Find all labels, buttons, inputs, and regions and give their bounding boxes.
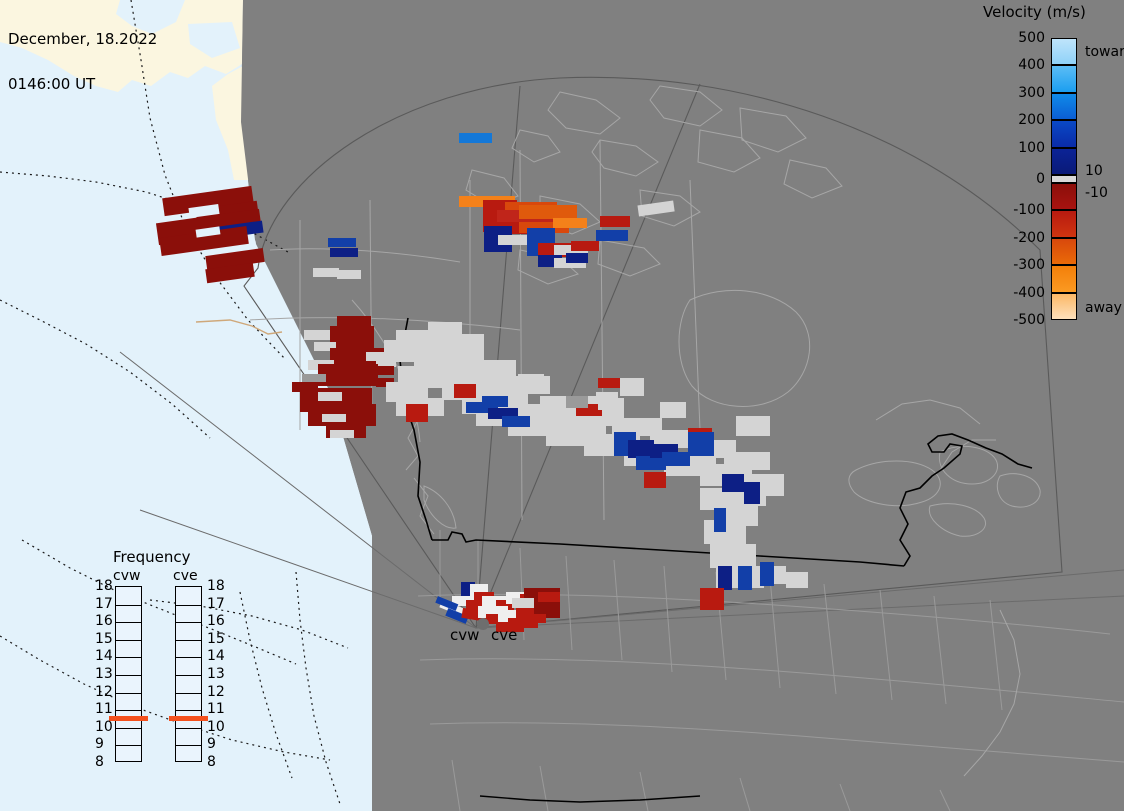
- velocity-segment-350: [1051, 65, 1077, 92]
- velocity-colorbar[interactable]: [1051, 38, 1077, 320]
- velocity-tick-200: 200: [1018, 112, 1045, 128]
- frequency-scale-label-left-10: 10: [95, 719, 113, 735]
- velocity-segment--250: [1051, 238, 1077, 265]
- velocity-positive-threshold-label: 10: [1085, 163, 1103, 179]
- frequency-scale-label-right-18: 18: [207, 578, 225, 594]
- velocity-colorbar-panel: Velocity (m/s) 5004003002001000-100-200-…: [975, 0, 1124, 330]
- frequency-scale-label-right-13: 13: [207, 666, 225, 682]
- frequency-gridline: [176, 745, 201, 746]
- cell-group-near-field-clutter: [435, 582, 560, 632]
- frequency-scale-label-left-14: 14: [95, 648, 113, 664]
- velocity-segment--50: [1051, 183, 1077, 210]
- time-label: 0146:00 UT: [8, 77, 157, 92]
- velocity-toward-label: toward: [1085, 44, 1124, 60]
- velocity-segment--350: [1051, 265, 1077, 292]
- frequency-scale-label-right-17: 17: [207, 596, 225, 612]
- velocity-tick--300: -300: [1013, 257, 1045, 273]
- frequency-scale-label-right-8: 8: [207, 754, 216, 770]
- velocity-tick--100: -100: [1013, 202, 1045, 218]
- frequency-gridline: [116, 728, 141, 729]
- frequency-gridline: [116, 693, 141, 694]
- frequency-gridline: [176, 605, 201, 606]
- frequency-scale-label-right-9: 9: [207, 736, 216, 752]
- frequency-scale-label-right-11: 11: [207, 701, 225, 717]
- frequency-gridline: [176, 640, 201, 641]
- frequency-gridline: [116, 657, 141, 658]
- frequency-gridline: [176, 728, 201, 729]
- frequency-column-title-cve: cve: [173, 568, 198, 584]
- velocity-tick-100: 100: [1018, 140, 1045, 156]
- frequency-gridline: [176, 693, 201, 694]
- velocity-away-label: away: [1085, 300, 1122, 316]
- frequency-scale-label-left-8: 8: [95, 754, 104, 770]
- frequency-scale-label-left-12: 12: [95, 684, 113, 700]
- frequency-bar-cvw[interactable]: [115, 586, 142, 762]
- frequency-legend-panel: Frequency cvwcve181817171616151514141313…: [95, 548, 235, 773]
- frequency-scale-label-left-18: 18: [95, 578, 113, 594]
- velocity-tick-300: 300: [1018, 85, 1045, 101]
- velocity-tick-500: 500: [1018, 30, 1045, 46]
- frequency-scale-label-right-16: 16: [207, 613, 225, 629]
- velocity-segment--150: [1051, 210, 1077, 237]
- frequency-gridline: [116, 675, 141, 676]
- frequency-scale-label-left-11: 11: [95, 701, 113, 717]
- frequency-gridline: [176, 710, 201, 711]
- velocity-segment-250: [1051, 93, 1077, 120]
- velocity-segment-50: [1051, 148, 1077, 175]
- velocity-segment-450: [1051, 38, 1077, 65]
- frequency-scale-label-right-12: 12: [207, 684, 225, 700]
- velocity-tick-400: 400: [1018, 57, 1045, 73]
- cell-group-western-red: [292, 316, 414, 438]
- cell-group-far-north: [459, 133, 492, 143]
- velocity-tick--400: -400: [1013, 285, 1045, 301]
- frequency-scale-label-right-15: 15: [207, 631, 225, 647]
- frequency-gridline: [176, 657, 201, 658]
- radar-map-screenshot: December, 18.2022 0146:00 UT cvw cve Vel…: [0, 0, 1124, 811]
- cell-group-scatter-arc-grey: [384, 322, 808, 588]
- date-label: December, 18.2022: [8, 32, 157, 47]
- velocity-colorbar-title: Velocity (m/s): [983, 3, 1086, 21]
- frequency-gridline: [176, 675, 201, 676]
- frequency-scale-label-left-9: 9: [95, 736, 104, 752]
- cell-group-north-complex: [313, 196, 675, 279]
- velocity-segment-150: [1051, 120, 1077, 147]
- frequency-gridline: [116, 710, 141, 711]
- frequency-scale-label-left-15: 15: [95, 631, 113, 647]
- frequency-bar-cve[interactable]: [175, 586, 202, 762]
- frequency-legend-title: Frequency: [113, 548, 191, 566]
- frequency-gridline: [116, 622, 141, 623]
- frequency-scale-label-left-17: 17: [95, 596, 113, 612]
- station-label-cve: cve: [491, 626, 517, 644]
- frequency-scale-label-right-10: 10: [207, 719, 225, 735]
- frequency-column-title-cvw: cvw: [113, 568, 140, 584]
- velocity-segment-0: [1051, 175, 1077, 183]
- velocity-segment--450: [1051, 293, 1077, 320]
- frequency-marker-cvw: [109, 716, 148, 721]
- velocity-tick-0: 0: [1036, 171, 1045, 187]
- frequency-gridline: [116, 640, 141, 641]
- frequency-marker-cve: [169, 716, 208, 721]
- velocity-negative-threshold-label: -10: [1085, 185, 1108, 201]
- velocity-tick--500: -500: [1013, 312, 1045, 328]
- station-label-cvw: cvw: [450, 626, 479, 644]
- frequency-gridline: [176, 622, 201, 623]
- velocity-tick--200: -200: [1013, 230, 1045, 246]
- timestamp-block: December, 18.2022 0146:00 UT: [8, 2, 157, 122]
- frequency-scale-label-left-16: 16: [95, 613, 113, 629]
- frequency-gridline: [116, 605, 141, 606]
- velocity-colorbar-ticks: 5004003002001000-100-200-300-400-500: [975, 38, 1045, 320]
- frequency-scale-label-right-14: 14: [207, 648, 225, 664]
- frequency-scale-label-left-13: 13: [95, 666, 113, 682]
- cell-group-northwest: [156, 186, 265, 283]
- frequency-gridline: [116, 745, 141, 746]
